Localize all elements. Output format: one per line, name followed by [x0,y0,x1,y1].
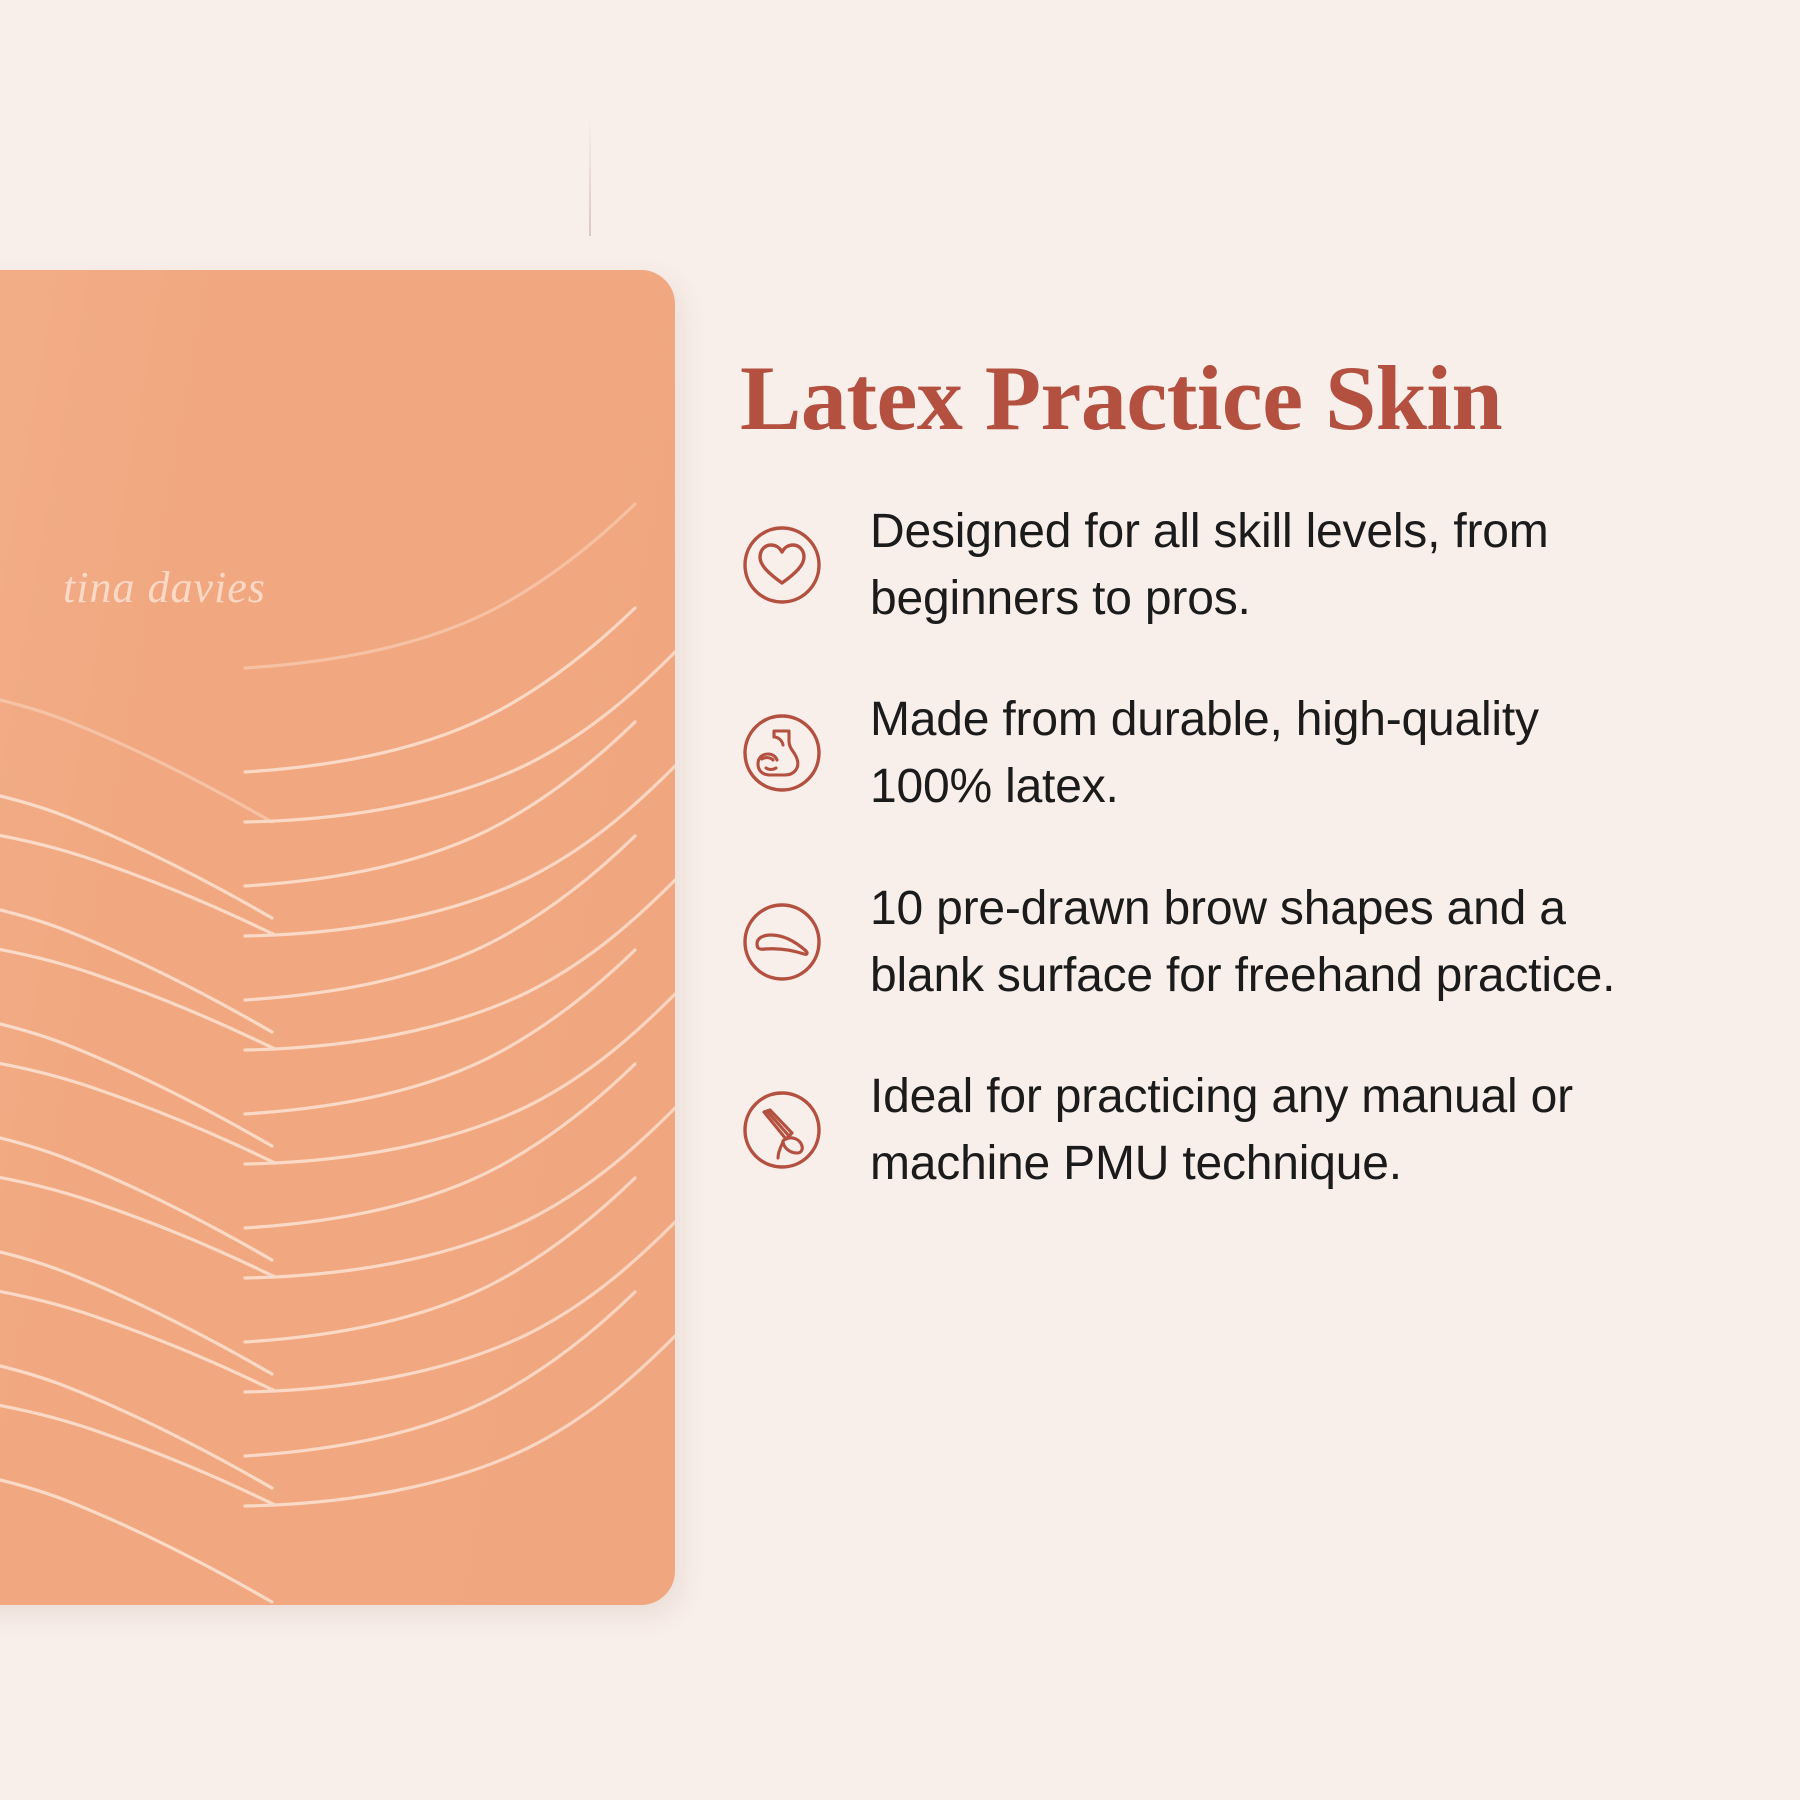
copy-column: Latex Practice Skin Designed for all ski… [740,352,1740,1197]
feature-list: Designed for all skill levels, from begi… [740,498,1740,1198]
list-item: Designed for all skill levels, from begi… [740,498,1740,632]
pre-drawn-brow-shapes [0,270,675,1605]
promo-card: tina davies Latex Practice Skin Designed… [0,0,1800,1800]
feature-text: 10 pre-drawn brow shapes and a blank sur… [870,875,1670,1009]
brand-logo: tina davies [63,562,266,613]
pmu-tool-icon [740,1088,824,1172]
practice-skin-pad-wrapper: tina davies [0,270,675,1605]
feature-text: Ideal for practicing any manual or machi… [870,1063,1670,1197]
feature-text: Made from durable, high-quality 100% lat… [870,686,1670,820]
list-item: Ideal for practicing any manual or machi… [740,1063,1740,1197]
list-item: Made from durable, high-quality 100% lat… [740,686,1740,820]
hanging-wire [589,118,591,236]
heart-icon [740,523,824,607]
flexed-bicep-icon [740,711,824,795]
eyebrow-icon [740,900,824,984]
page-title: Latex Practice Skin [740,352,1740,446]
practice-skin-pad: tina davies [0,270,675,1605]
feature-text: Designed for all skill levels, from begi… [870,498,1670,632]
list-item: 10 pre-drawn brow shapes and a blank sur… [740,875,1740,1009]
